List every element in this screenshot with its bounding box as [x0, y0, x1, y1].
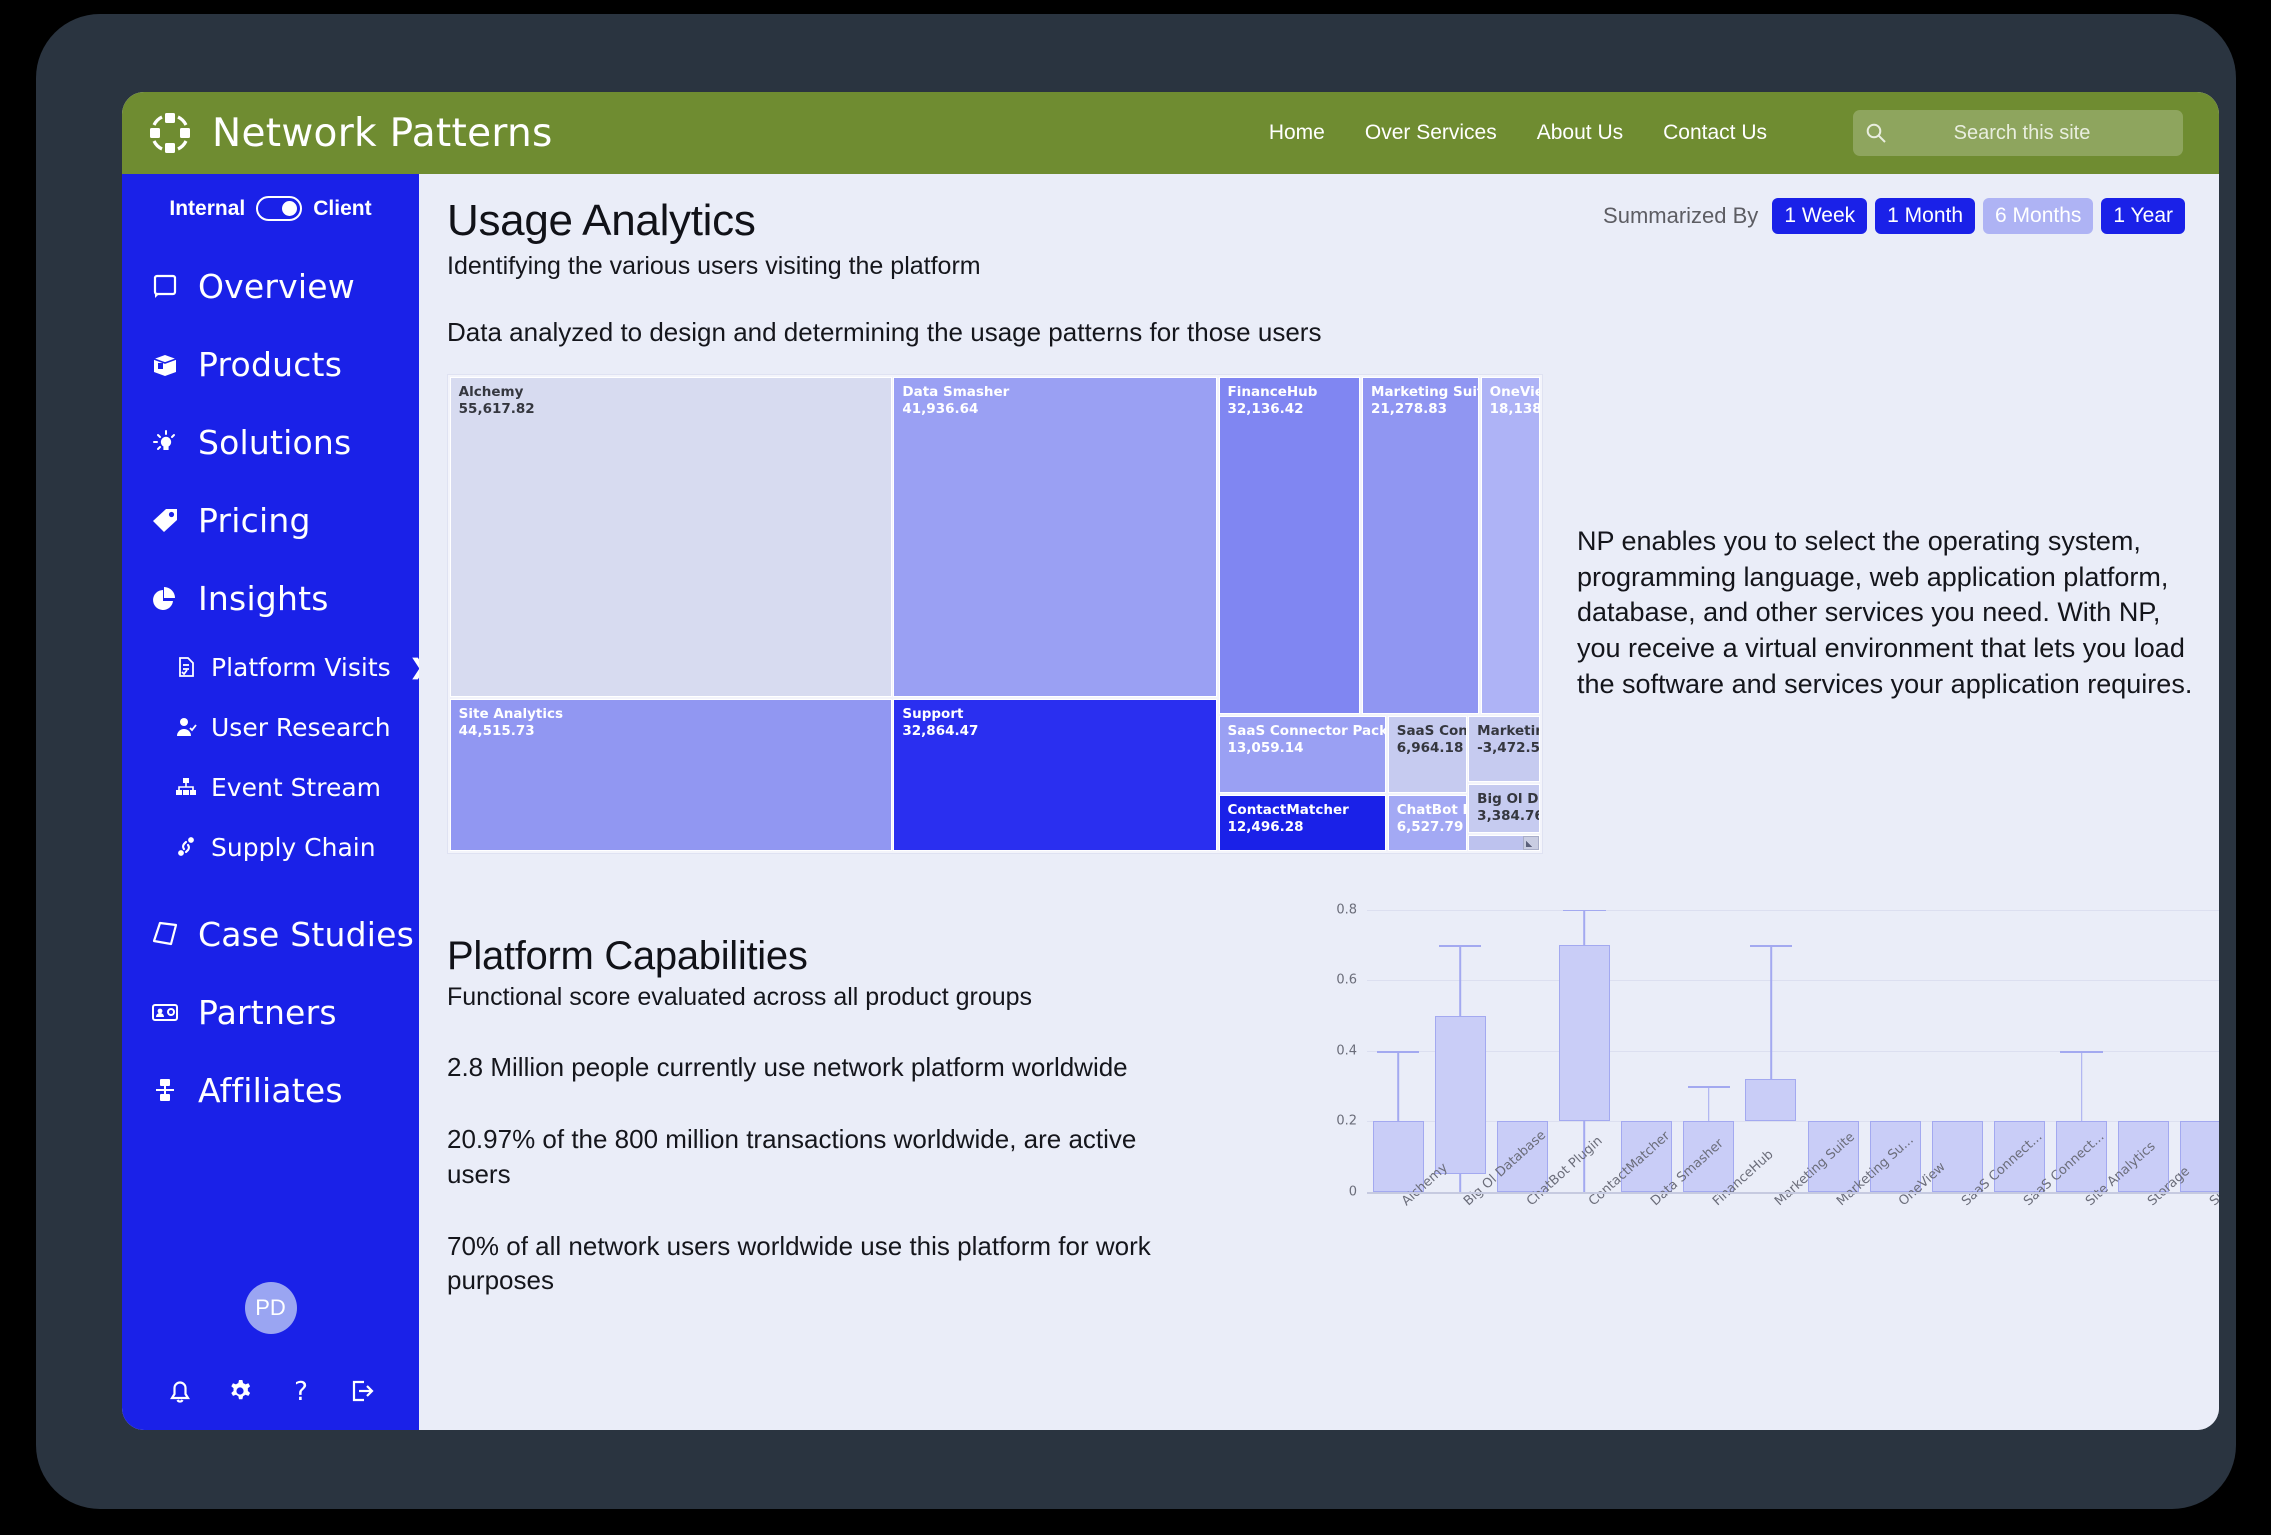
sidebar-item-label: Products [198, 345, 342, 384]
sidebar-item-label: Insights [198, 579, 329, 618]
treemap-tile-value: 6,964.18 [1389, 740, 1466, 757]
box-rect [1435, 1016, 1486, 1175]
whisker-upper [1459, 945, 1461, 1016]
box-icon [150, 349, 180, 379]
sidebar-footer: ? [122, 1374, 419, 1408]
box-rect [2180, 1121, 2219, 1192]
treemap-tile[interactable]: Marketing Suite - Gold21,278.83 [1362, 377, 1479, 714]
range-button-6-months[interactable]: 6 Months [1983, 198, 2093, 234]
toggle-knob [282, 201, 297, 216]
treemap-tile-value: 32,136.42 [1220, 401, 1360, 418]
treemap-tile-label: ChatBot Plugin [1389, 796, 1466, 819]
whisker-upper [1584, 910, 1586, 945]
sidebar-item-case-studies[interactable]: Case Studies [122, 895, 419, 973]
sidebar-item-affiliates[interactable]: Affiliates [122, 1051, 419, 1129]
treemap-tile-label: Marketing Suite - Gold [1363, 378, 1478, 401]
whisker-upper [2081, 1051, 2083, 1122]
sidebar-item-partners[interactable]: Partners [122, 973, 419, 1051]
gear-icon[interactable] [223, 1374, 257, 1408]
search-input[interactable]: Search this site [1853, 110, 2183, 156]
treemap-tile[interactable]: SaaS Connector Pack13,059.14 [1219, 716, 1387, 793]
treemap-tile-value: 12,496.28 [1220, 819, 1386, 836]
org-tree-icon [174, 775, 198, 799]
id-card-icon [150, 997, 180, 1027]
treemap-tile[interactable]: Site Analytics44,515.73 [450, 699, 892, 851]
sidebar-item-label: Overview [198, 267, 355, 306]
help-icon[interactable]: ? [284, 1374, 318, 1408]
treemap-tile-label: Marketing ... [1469, 717, 1539, 740]
price-tag-icon [150, 505, 180, 535]
user-check-icon [174, 715, 198, 739]
box-plot-item[interactable] [2175, 892, 2219, 1192]
nav-link-home[interactable]: Home [1269, 121, 1325, 145]
lightbulb-icon [150, 427, 180, 457]
capability-stat-1: 2.8 Million people currently use network… [447, 1050, 1207, 1084]
treemap-tile[interactable]: ContactMatcher12,496.28 [1219, 795, 1387, 851]
treemap-tile-value: 44,515.73 [451, 723, 891, 740]
treemap-tile-label: Alchemy [451, 378, 891, 401]
treemap-tile-value: -3,472.56 [1469, 740, 1539, 757]
sidebar-subitem-platform-visits[interactable]: Platform Visits ❯ [122, 637, 419, 697]
overview-frame-icon [150, 271, 180, 301]
whisker-lower [1459, 1174, 1461, 1192]
device-bezel: Network Patterns Home Over Services Abou… [36, 14, 2236, 1509]
y-axis-tick-label: 0 [1349, 1185, 1357, 1200]
treemap-tile-label: FinanceHub [1220, 378, 1360, 401]
treemap-tile[interactable]: Big Ol Dat...3,384.76 [1468, 784, 1540, 833]
box-rect [1932, 1121, 1983, 1192]
whisker-upper [1770, 945, 1772, 1079]
sidebar-nav: Overview Products [122, 247, 419, 1129]
link-chain-icon [174, 835, 198, 859]
search-icon [1865, 122, 1887, 144]
range-button-1-year[interactable]: 1 Year [2101, 198, 2185, 234]
svg-text:?: ? [294, 1377, 308, 1407]
toggle-label-client: Client [313, 197, 371, 221]
box-rect [1559, 945, 1610, 1121]
treemap-tile-label: SaaS Connector Pack - ... [1389, 717, 1466, 740]
treemap-tile-value: 3,384.76 [1469, 808, 1539, 825]
brand-logo[interactable]: Network Patterns [144, 107, 553, 159]
page-lead-text: Data analyzed to design and determining … [447, 317, 2185, 348]
box-plot-item[interactable] [1367, 892, 1429, 1192]
bell-icon[interactable] [163, 1374, 197, 1408]
sidebar-item-overview[interactable]: Overview [122, 247, 419, 325]
np-description-text: NP enables you to select the operating s… [1577, 524, 2197, 702]
box-plot-item[interactable] [1429, 892, 1491, 1192]
treemap-tile-label: Big Ol Dat... [1469, 785, 1539, 808]
whisker-upper [1397, 1051, 1399, 1122]
y-axis-tick-label: 0.8 [1336, 902, 1357, 917]
whisker-cap-upper [1563, 910, 1605, 912]
sidebar-item-pricing[interactable]: Pricing [122, 481, 419, 559]
whisker-cap-upper [1750, 945, 1792, 947]
sidebar-item-label: Partners [198, 993, 337, 1032]
y-axis-tick-label: 0.2 [1336, 1114, 1357, 1129]
summarized-by-label: Summarized By [1603, 203, 1758, 229]
whisker-cap-upper [1688, 1086, 1730, 1088]
whisker-cap-upper [1439, 945, 1481, 947]
whisker-cap-upper [1377, 1051, 1419, 1053]
capability-stat-3: 70% of all network users worldwide use t… [447, 1229, 1207, 1298]
toggle-label-internal: Internal [169, 197, 245, 221]
sidebar-item-label: Solutions [198, 423, 351, 462]
treemap-tile[interactable]: FinanceHub32,136.42 [1219, 377, 1361, 714]
sidebar-subitem-label: Event Stream [211, 773, 381, 802]
pie-chart-icon [150, 583, 180, 613]
x-axis-line [1367, 1192, 2219, 1194]
app-screen: Network Patterns Home Over Services Abou… [122, 92, 2219, 1430]
sidebar-subitem-user-research[interactable]: User Research [122, 697, 419, 757]
sidebar-subitem-event-stream[interactable]: Event Stream [122, 757, 419, 817]
treemap-resize-handle[interactable] [1523, 836, 1539, 850]
y-axis-tick-label: 0.6 [1336, 973, 1357, 988]
sidebar-subitem-label: User Research [211, 713, 391, 742]
treemap-tile-label: OneView [1482, 378, 1540, 401]
treemap-tile[interactable]: SaaS Connector Pack - ...6,964.18 [1388, 716, 1467, 793]
treemap-tile-value: 32,864.47 [894, 723, 1215, 740]
top-header-bar: Network Patterns Home Over Services Abou… [122, 92, 2219, 174]
usage-treemap[interactable]: Big Ol Dat...3,384.76ChatBot Plugin6,527… [447, 374, 1543, 854]
range-button-1-month[interactable]: 1 Month [1875, 198, 1975, 234]
treemap-tile-label: Data Smasher [894, 378, 1215, 401]
treemap-tile-value: 13,059.14 [1220, 740, 1386, 757]
treemap-tile-value: 6,527.79 [1389, 819, 1466, 836]
page-subtitle: Identifying the various users visiting t… [447, 252, 2185, 281]
whisker-cap-upper [2060, 1051, 2102, 1053]
brand-name: Network Patterns [212, 111, 553, 156]
treemap-tile-value: 21,278.83 [1363, 401, 1478, 418]
avatar[interactable]: PD [245, 1282, 297, 1334]
top-navigation: Home Over Services About Us Contact Us S… [1269, 110, 2219, 156]
treemap-tile-value: 55,617.82 [451, 401, 891, 418]
sidebar-item-label: Affiliates [198, 1071, 343, 1110]
capabilities-subtitle: Functional score evaluated across all pr… [447, 983, 1207, 1012]
y-axis-tick-label: 0.4 [1336, 1043, 1357, 1058]
affiliate-nodes-icon [150, 1075, 180, 1105]
range-button-1-week[interactable]: 1 Week [1772, 198, 1867, 234]
nav-link-about-us[interactable]: About Us [1537, 121, 1623, 145]
treemap-tile[interactable]: Support32,864.47 [893, 699, 1216, 851]
logout-icon[interactable] [344, 1374, 378, 1408]
plot-area: 00.20.40.60.8AlchemyBig Ol DatabaseChatB… [1367, 892, 2219, 1192]
sidebar: Internal Client Overview [122, 174, 419, 1430]
internal-client-toggle[interactable]: Internal Client [122, 196, 419, 221]
treemap-tile-value: 18,138.01 [1482, 401, 1540, 418]
summarized-by-control: Summarized By 1 Week 1 Month 6 Months 1 … [1603, 198, 2185, 234]
nav-link-contact-us[interactable]: Contact Us [1663, 121, 1767, 145]
search-placeholder: Search this site [1887, 122, 2183, 145]
whisker-upper [1708, 1086, 1710, 1121]
treemap-tile[interactable]: Data Smasher41,936.64 [893, 377, 1216, 697]
sidebar-subitem-supply-chain[interactable]: Supply Chain [122, 817, 419, 877]
capabilities-box-plot[interactable]: 00.20.40.60.8AlchemyBig Ol DatabaseChatB… [1299, 874, 2219, 1294]
capability-stat-2: 20.97% of the 800 million transactions w… [447, 1122, 1207, 1191]
sidebar-subitem-label: Supply Chain [211, 833, 376, 862]
treemap-tile[interactable]: OneView18,138.01 [1481, 377, 1541, 714]
network-nodes-icon [144, 107, 196, 159]
sidebar-item-label: Pricing [198, 501, 311, 540]
box-plot-item[interactable] [1926, 892, 1988, 1192]
treemap-tile-label: ContactMatcher [1220, 796, 1386, 819]
treemap-tile[interactable]: Alchemy55,617.82 [450, 377, 892, 697]
capabilities-title: Platform Capabilities [447, 934, 1207, 979]
page-fold-icon [150, 919, 180, 949]
sidebar-item-insights[interactable]: Insights [122, 559, 419, 637]
treemap-tile-label: Support [894, 700, 1215, 723]
treemap-tile[interactable]: Marketing ...-3,472.56 [1468, 716, 1540, 782]
nav-link-over-services[interactable]: Over Services [1365, 121, 1497, 145]
box-rect [1745, 1079, 1796, 1121]
main-content: Summarized By 1 Week 1 Month 6 Months 1 … [419, 174, 2219, 1430]
treemap-tile-value: 41,936.64 [894, 401, 1215, 418]
treemap-tile[interactable]: ChatBot Plugin6,527.79 [1388, 795, 1467, 851]
sidebar-item-products[interactable]: Products [122, 325, 419, 403]
treemap-tile-label: Site Analytics [451, 700, 891, 723]
toggle-switch[interactable] [256, 196, 302, 221]
sidebar-item-solutions[interactable]: Solutions [122, 403, 419, 481]
treemap-tile-label: SaaS Connector Pack [1220, 717, 1386, 740]
platform-capabilities-section: Platform Capabilities Functional score e… [447, 934, 1207, 1298]
box-plot-item[interactable] [1740, 892, 1802, 1192]
document-check-icon [174, 655, 198, 679]
sidebar-item-label: Case Studies [198, 915, 414, 954]
sidebar-subitem-label: Platform Visits [211, 653, 391, 682]
